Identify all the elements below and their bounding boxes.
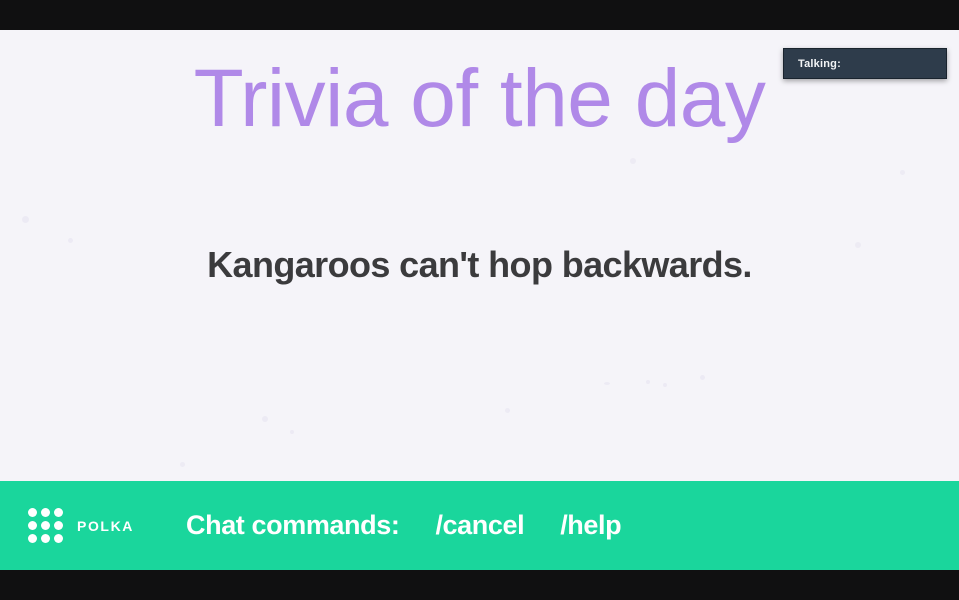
brand-lockup: POLKA bbox=[28, 508, 134, 543]
chat-commands: Chat commands: /cancel /help bbox=[186, 510, 621, 541]
talking-label: Talking: bbox=[798, 58, 841, 70]
logo-dot bbox=[54, 521, 63, 530]
logo-dot bbox=[41, 521, 50, 530]
chat-command-help[interactable]: /help bbox=[560, 510, 621, 541]
logo-dot bbox=[54, 508, 63, 517]
chat-command-cancel[interactable]: /cancel bbox=[435, 510, 524, 541]
letterbox-bottom bbox=[0, 570, 959, 600]
chat-commands-label: Chat commands: bbox=[186, 510, 399, 541]
logo-dot bbox=[54, 534, 63, 543]
trivia-content: Trivia of the day Kangaroos can't hop ba… bbox=[0, 30, 959, 481]
footer-bar: POLKA Chat commands: /cancel /help bbox=[0, 481, 959, 570]
logo-dot bbox=[41, 508, 50, 517]
logo-dot bbox=[28, 521, 37, 530]
trivia-fact-text: Kangaroos can't hop backwards. bbox=[0, 243, 959, 286]
logo-dot bbox=[41, 534, 50, 543]
talking-indicator-box: Talking: bbox=[783, 48, 947, 79]
stream-overlay-app: Trivia of the day Kangaroos can't hop ba… bbox=[0, 0, 959, 600]
logo-dot bbox=[28, 534, 37, 543]
letterbox-top bbox=[0, 0, 959, 30]
brand-name: POLKA bbox=[77, 518, 134, 534]
trivia-stage: Trivia of the day Kangaroos can't hop ba… bbox=[0, 30, 959, 570]
polka-dot-grid-icon bbox=[28, 508, 63, 543]
logo-dot bbox=[28, 508, 37, 517]
